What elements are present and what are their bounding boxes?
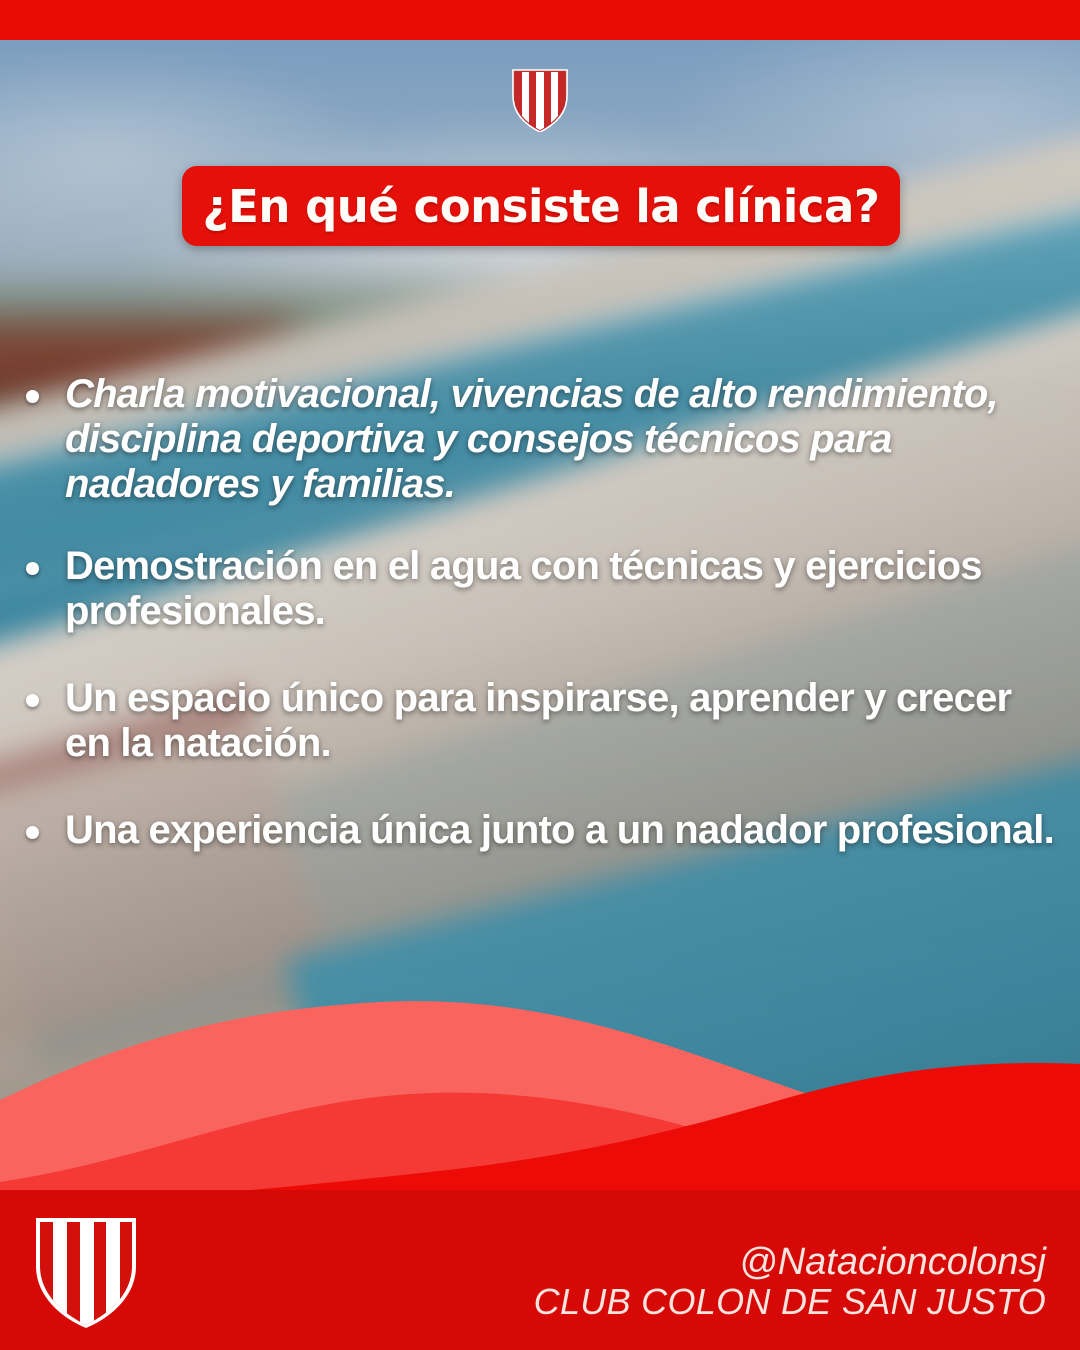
bullet-list: Charla motivacional, vivencias de alto r… xyxy=(26,372,1056,894)
title-badge: ¿En qué consiste la clínica? xyxy=(182,166,900,246)
page-title: ¿En qué consiste la clínica? xyxy=(203,184,880,229)
bullet-dot-icon xyxy=(26,390,39,403)
club-shield-logo-top xyxy=(511,66,569,132)
footer-credits: @Natacioncolonsj CLUB COLON DE SAN JUSTO xyxy=(534,1242,1046,1322)
club-shield-logo-footer xyxy=(32,1212,140,1328)
bullet-dot-icon xyxy=(26,694,39,707)
club-name: CLUB COLON DE SAN JUSTO xyxy=(534,1283,1046,1322)
poster-canvas: ¿En qué consiste la clínica? Charla moti… xyxy=(0,0,1080,1350)
list-item-label: Charla motivacional, vivencias de alto r… xyxy=(65,372,1056,508)
list-item: Charla motivacional, vivencias de alto r… xyxy=(26,372,1056,508)
list-item: Una experiencia única junto a un nadador… xyxy=(26,808,1056,853)
list-item: Un espacio único para inspirarse, aprend… xyxy=(26,676,1056,766)
social-handle[interactable]: @Natacioncolonsj xyxy=(534,1242,1046,1283)
bullet-dot-icon xyxy=(26,562,39,575)
bullet-dot-icon xyxy=(26,826,39,839)
top-red-bar xyxy=(0,0,1080,40)
list-item-label: Un espacio único para inspirarse, aprend… xyxy=(65,676,1056,766)
list-item-label: Una experiencia única junto a un nadador… xyxy=(65,808,1054,853)
list-item-label: Demostración en el agua con técnicas y e… xyxy=(65,544,1056,634)
list-item: Demostración en el agua con técnicas y e… xyxy=(26,544,1056,634)
